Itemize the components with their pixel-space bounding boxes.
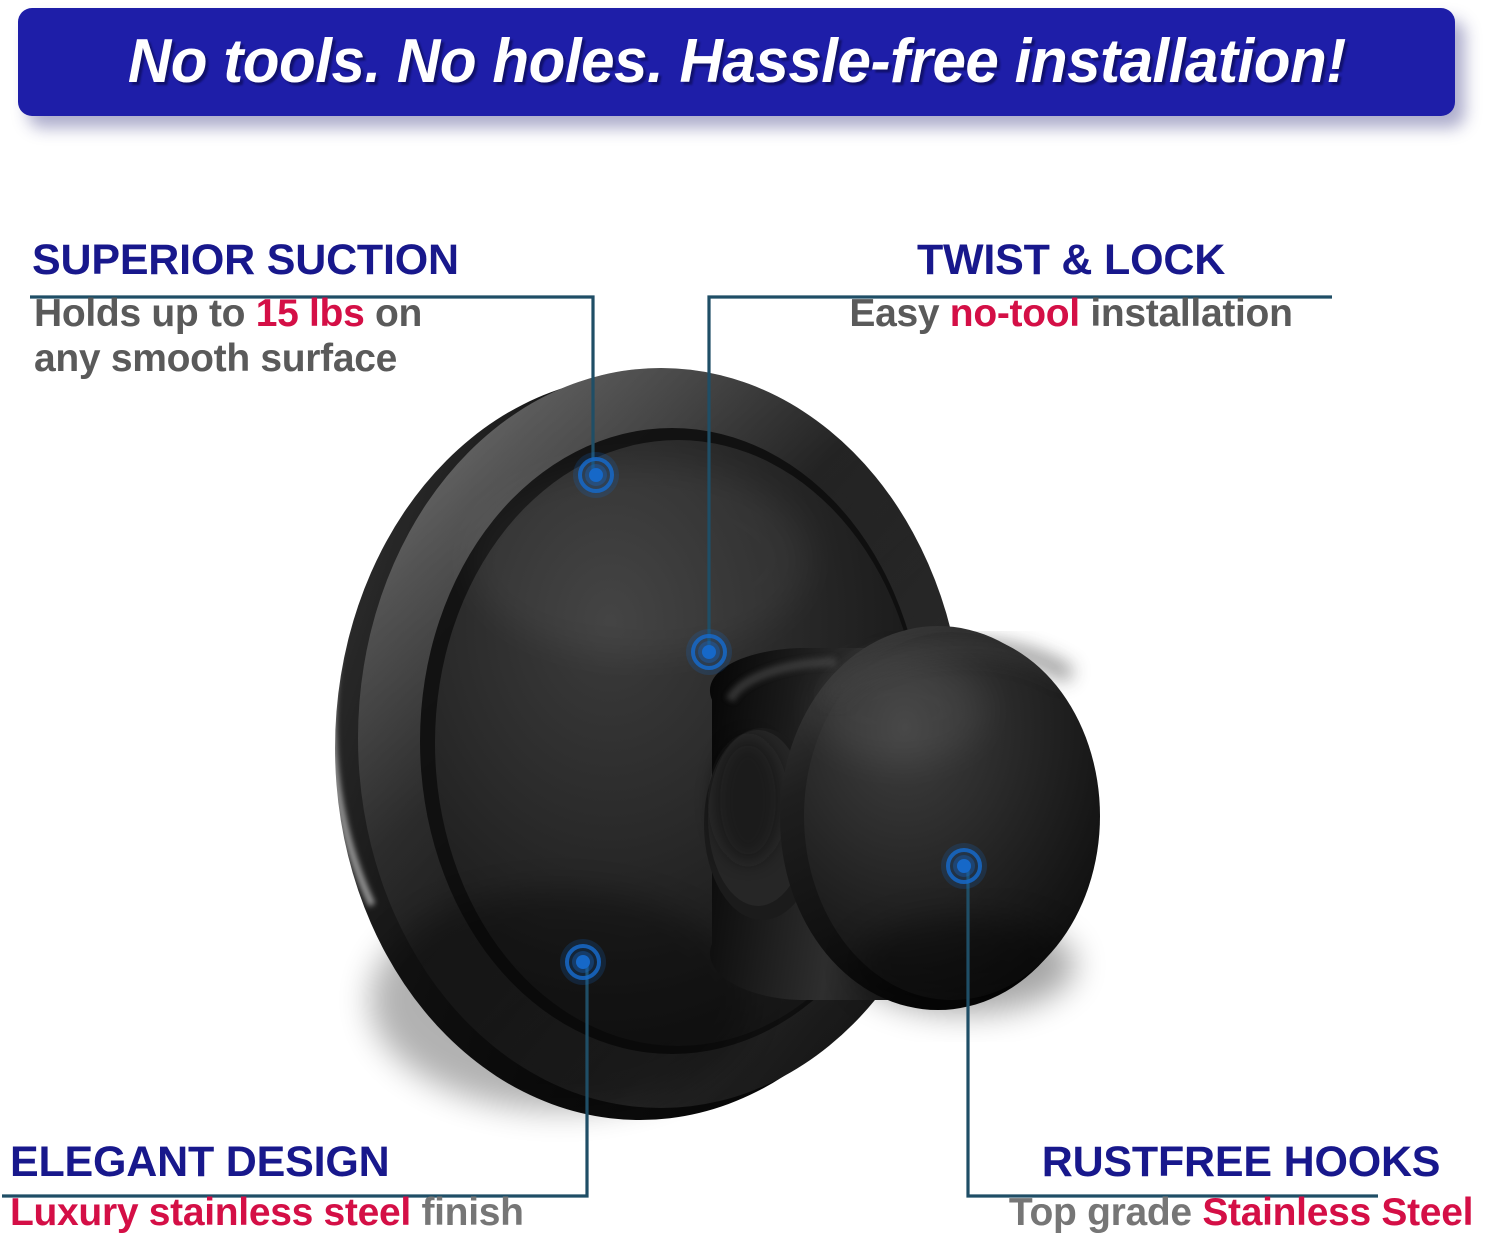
marker-elegant-design xyxy=(560,939,606,985)
callout-rustfree-hooks-text: Top grade Stainless Steel xyxy=(985,1191,1497,1235)
marker-rustfree-hooks xyxy=(941,843,987,889)
hook-knob xyxy=(704,626,1100,1013)
callout-superior-suction: SUPERIOR SUCTION Holds up to 15 lbs on a… xyxy=(30,238,459,381)
callout-twist-lock-title: TWIST & LOCK xyxy=(716,238,1426,283)
infographic-canvas: No tools. No holes. Hassle-free installa… xyxy=(0,0,1500,1260)
connector-twist-lock xyxy=(709,297,1332,652)
text-segment: Easy xyxy=(849,292,949,335)
callout-twist-lock-text: Easy no-tool installation xyxy=(716,292,1426,336)
highlight-no-tool: no-tool xyxy=(950,292,1080,335)
text-segment: finish xyxy=(411,1191,524,1234)
highlight-luxury-steel: Luxury stainless steel xyxy=(10,1191,411,1234)
product-image xyxy=(0,0,1500,1260)
callout-superior-suction-title: SUPERIOR SUCTION xyxy=(30,238,459,283)
callout-rustfree-hooks-title: RUSTFREE HOOKS xyxy=(985,1140,1497,1185)
text-segment: on xyxy=(364,292,422,335)
callout-superior-suction-text: Holds up to 15 lbs on any smooth surface xyxy=(30,292,459,381)
marker-superior-suction xyxy=(573,452,619,498)
text-segment: installation xyxy=(1080,292,1293,335)
callout-rustfree-hooks: RUSTFREE HOOKS Top grade Stainless Steel xyxy=(985,1140,1497,1236)
callout-elegant-design-text: Luxury stainless steel finish xyxy=(8,1191,524,1235)
callout-twist-lock: TWIST & LOCK Easy no-tool installation xyxy=(716,238,1426,337)
headline-banner-text: No tools. No holes. Hassle-free installa… xyxy=(128,31,1346,93)
text-segment: any smooth surface xyxy=(34,337,397,380)
highlight-weight-capacity: 15 lbs xyxy=(256,292,365,335)
suction-cup-base xyxy=(332,368,964,1120)
marker-twist-lock xyxy=(686,629,732,675)
callout-elegant-design: ELEGANT DESIGN Luxury stainless steel fi… xyxy=(8,1140,524,1236)
headline-banner: No tools. No holes. Hassle-free installa… xyxy=(18,8,1455,116)
text-segment: Holds up to xyxy=(34,292,256,335)
text-segment: Top grade xyxy=(1009,1191,1202,1234)
callout-elegant-design-title: ELEGANT DESIGN xyxy=(8,1140,524,1185)
highlight-stainless-steel: Stainless Steel xyxy=(1202,1191,1473,1234)
callout-connectors xyxy=(0,0,1500,1260)
